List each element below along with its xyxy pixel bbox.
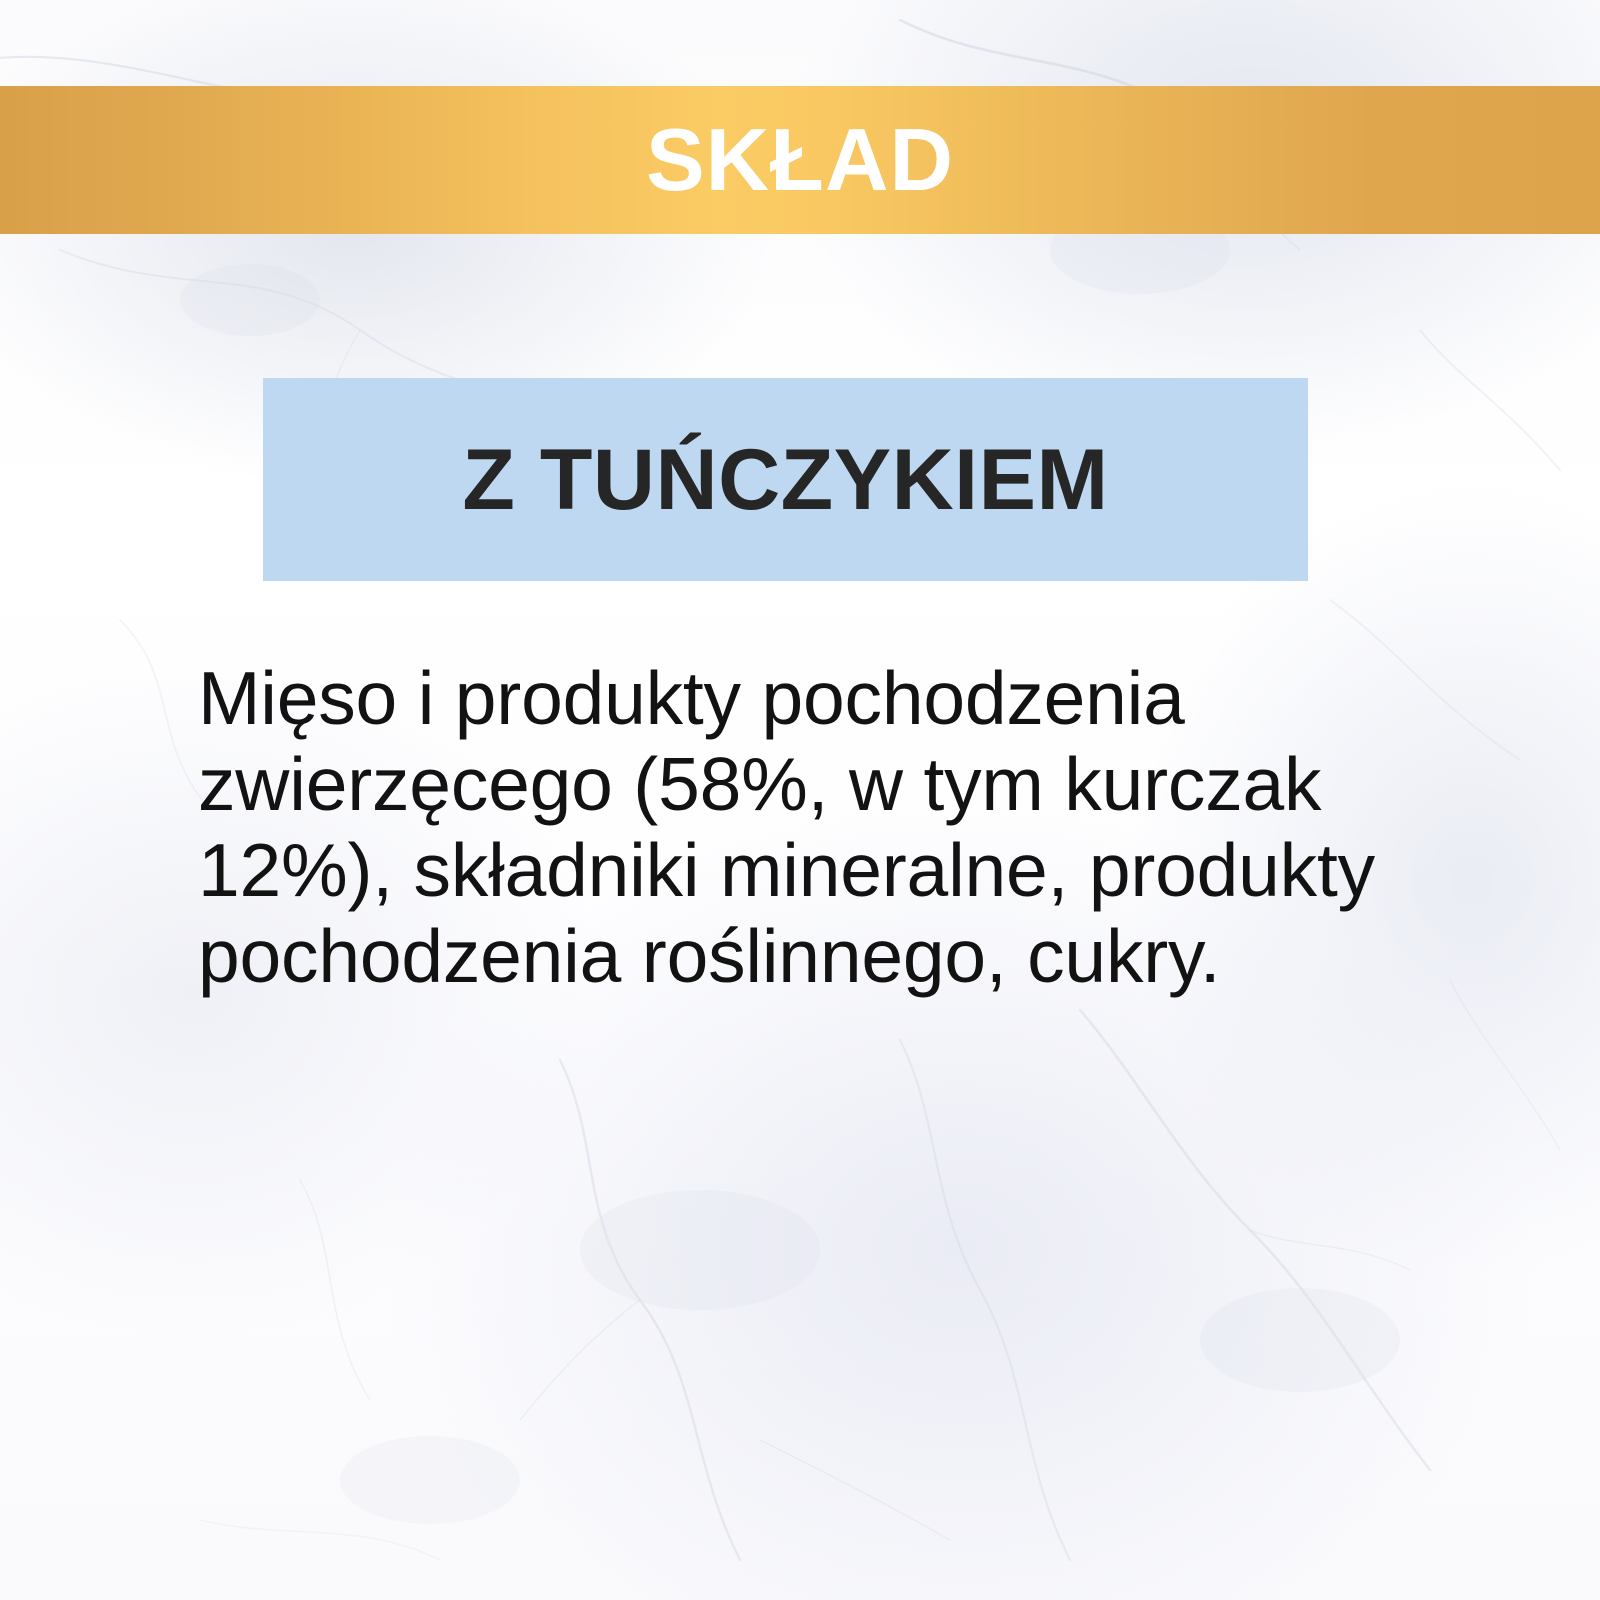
- ingredients-text: Mięso i produkty pochodzenia zwierzęcego…: [198, 655, 1463, 999]
- variant-badge: Z TUŃCZYKIEM: [263, 378, 1308, 581]
- page-title: SKŁAD: [646, 116, 954, 204]
- product-ingredients-panel: SKŁAD Z TUŃCZYKIEM Mięso i produkty poch…: [0, 0, 1600, 1600]
- section-header-banner: SKŁAD: [0, 86, 1600, 234]
- variant-name-label: Z TUŃCZYKIEM: [462, 437, 1108, 523]
